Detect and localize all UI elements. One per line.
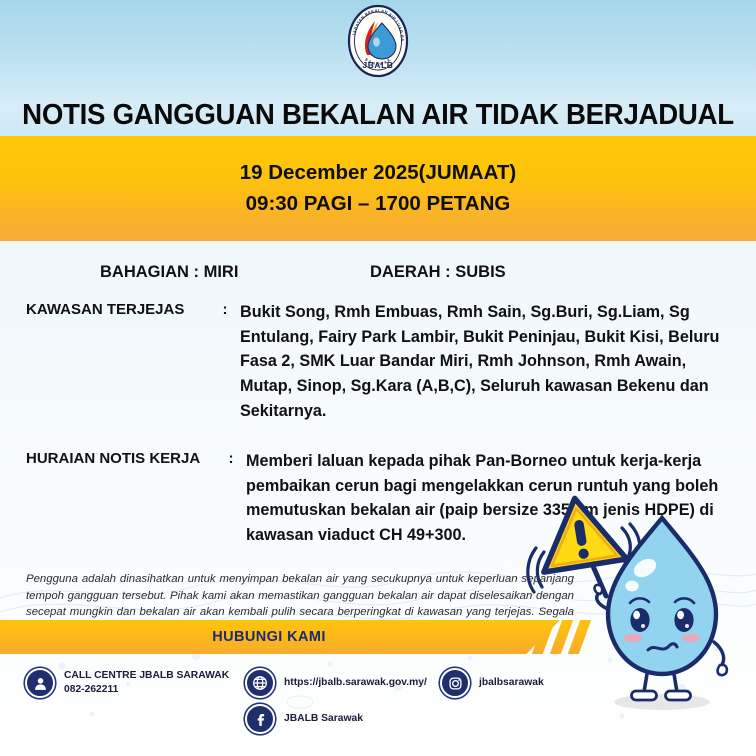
globe-icon <box>245 668 275 698</box>
call-centre-text: CALL CENTRE JBALB SARAWAK 082-262211 <box>64 669 229 697</box>
contact-website[interactable]: https://jbalb.sarawak.gov.my/ <box>245 668 427 698</box>
notice-poster: JABATAN BEKALAN AIR LUAR BANDAR SARAWAK … <box>0 0 756 756</box>
affected-areas-value: Bukit Song, Rmh Embuas, Rmh Sain, Sg.Bur… <box>240 300 720 423</box>
website-url[interactable]: https://jbalb.sarawak.gov.my/ <box>284 676 427 690</box>
jbalb-logo: JABATAN BEKALAN AIR LUAR BANDAR SARAWAK … <box>342 2 414 80</box>
affected-areas-colon: : <box>210 300 240 423</box>
notice-date: 19 December 2025(JUMAAT) <box>240 161 516 185</box>
affected-areas-label: KAWASAN TERJEJAS <box>26 300 210 423</box>
bahagian-field: BAHAGIAN : MIRI <box>100 263 350 282</box>
region-row: BAHAGIAN : MIRI DAERAH : SUBIS <box>0 241 756 282</box>
svg-text:JBALB: JBALB <box>363 60 394 70</box>
contact-facebook[interactable]: JBALB Sarawak <box>245 704 363 734</box>
facebook-page-name[interactable]: JBALB Sarawak <box>284 712 363 726</box>
date-time-band: 19 December 2025(JUMAAT) 09:30 PAGI – 17… <box>0 136 756 241</box>
contact-call-centre[interactable]: CALL CENTRE JBALB SARAWAK 082-262211 <box>25 668 229 698</box>
person-icon <box>25 668 55 698</box>
notice-time: 09:30 PAGI – 1700 PETANG <box>246 192 511 216</box>
poster-header: JABATAN BEKALAN AIR LUAR BANDAR SARAWAK … <box>0 0 756 136</box>
contact-list: CALL CENTRE JBALB SARAWAK 082-262211 htt… <box>0 654 756 756</box>
contact-band-wrapper: HUBUNGI KAMI <box>0 620 756 654</box>
call-centre-line1: CALL CENTRE JBALB SARAWAK <box>64 670 229 681</box>
poster-footer: HUBUNGI KAMI CALL CENTRE JBALB SARAWAK 0… <box>0 620 756 756</box>
contact-band: HUBUNGI KAMI <box>0 620 560 654</box>
work-description-label: HURAIAN NOTIS KERJA <box>26 449 216 548</box>
affected-areas-block: KAWASAN TERJEJAS : Bukit Song, Rmh Embua… <box>0 300 756 423</box>
work-description-value: Memberi laluan kepada pihak Pan-Borneo u… <box>246 449 726 548</box>
contact-band-label: HUBUNGI KAMI <box>212 629 326 645</box>
facebook-icon <box>245 704 275 734</box>
daerah-field: DAERAH : SUBIS <box>370 263 506 282</box>
instagram-handle[interactable]: jbalbsarawak <box>479 676 544 690</box>
work-description-colon: : <box>216 449 246 548</box>
contact-instagram[interactable]: jbalbsarawak <box>440 668 544 698</box>
call-centre-line2: 082-262211 <box>64 683 229 697</box>
work-description-block: HURAIAN NOTIS KERJA : Memberi laluan kep… <box>0 449 756 548</box>
page-title: NOTIS GANGGUAN BEKALAN AIR TIDAK BERJADU… <box>11 99 744 132</box>
instagram-icon <box>440 668 470 698</box>
